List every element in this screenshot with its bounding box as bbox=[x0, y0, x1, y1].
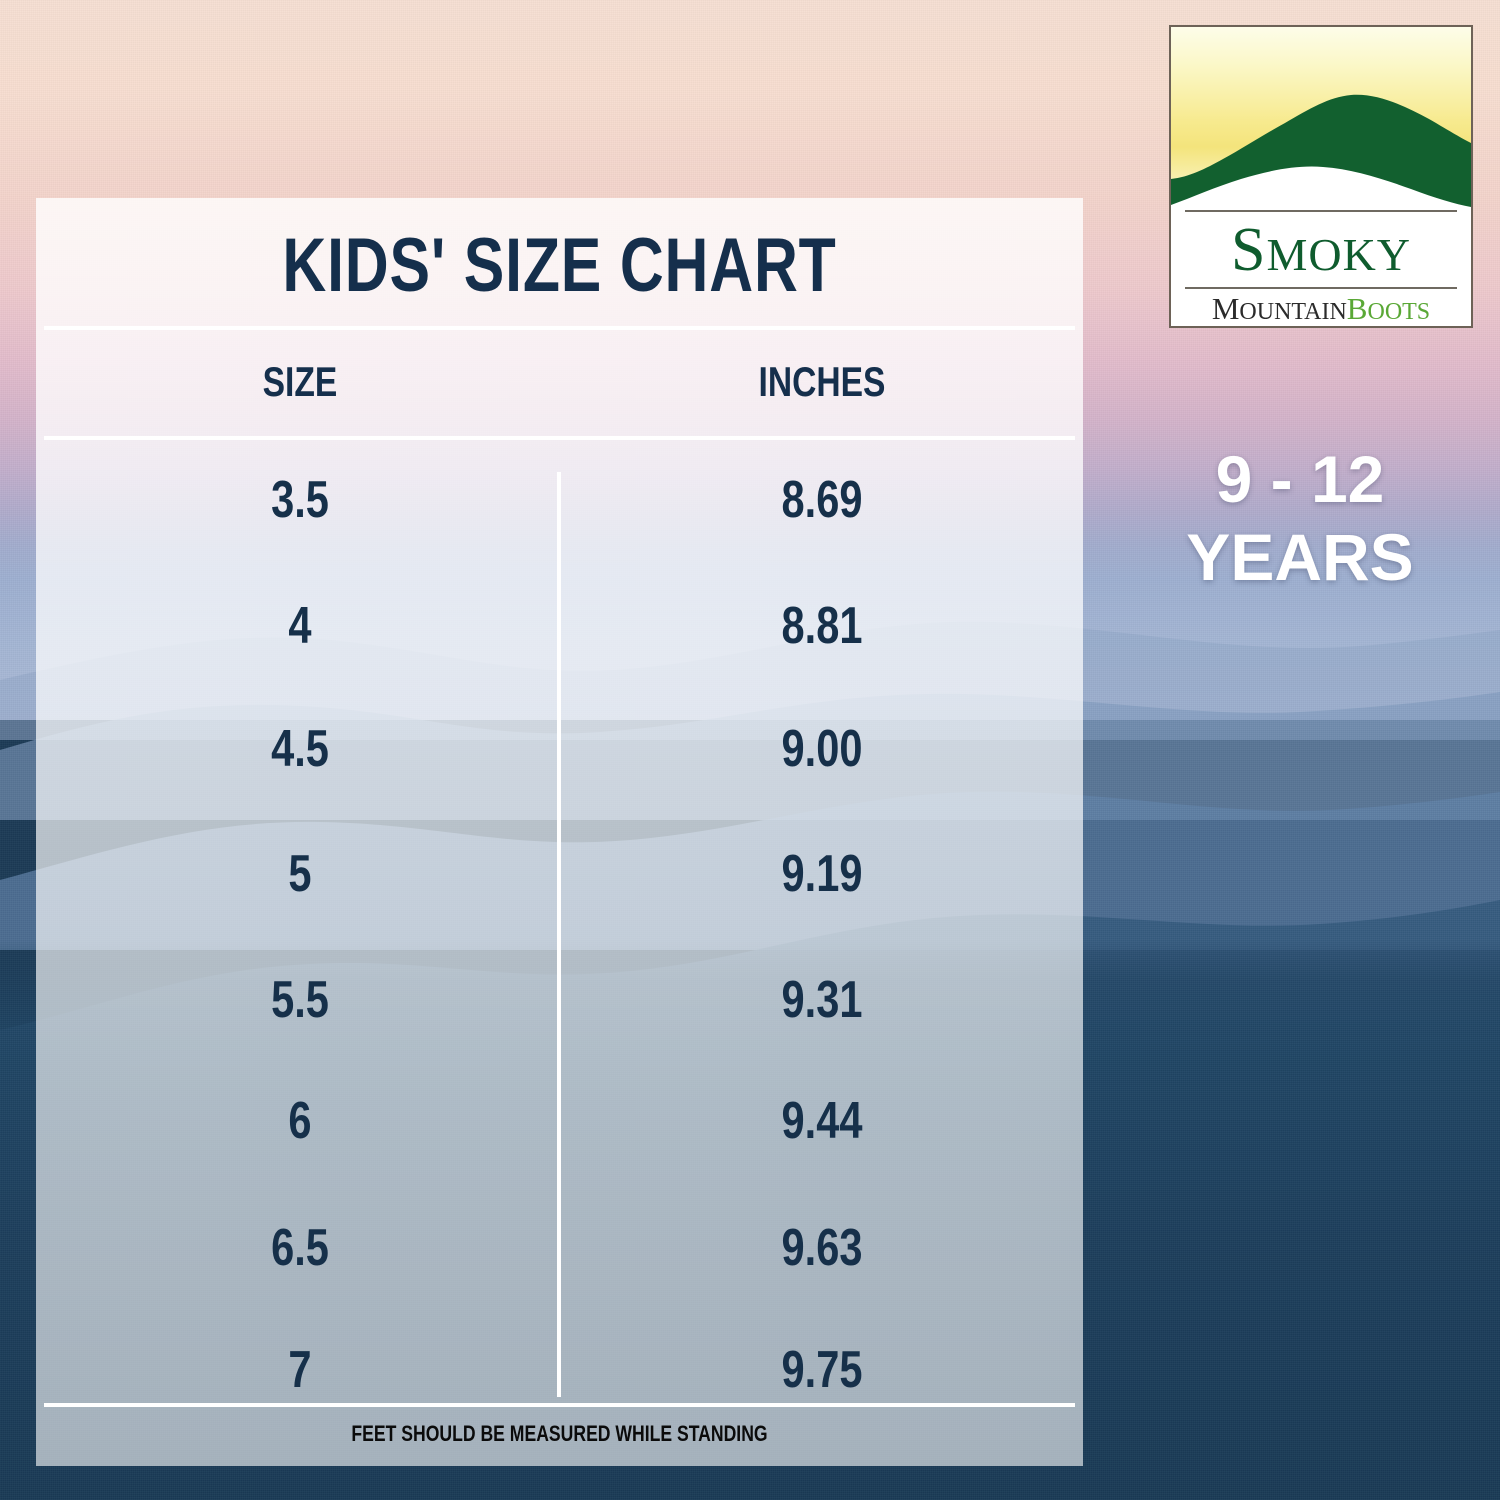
logo-mountain-rest: OUNTAIN bbox=[1239, 299, 1346, 325]
logo-mountain-initial: M bbox=[1212, 291, 1240, 326]
age-range-badge: 9 - 12 YEARS bbox=[1110, 440, 1490, 596]
footer-divider bbox=[44, 1403, 1075, 1407]
cell-size: 4 bbox=[214, 566, 385, 686]
column-header-inches: INCHES bbox=[726, 358, 918, 406]
cell-size: 6 bbox=[214, 1061, 385, 1181]
cell-inches: 9.75 bbox=[726, 1310, 918, 1430]
table-row: 6 9.44 bbox=[36, 1061, 1083, 1181]
brand-logo: SMOKY MOUNTAINBOOTS bbox=[1169, 25, 1473, 328]
column-header-size: SIZE bbox=[214, 358, 385, 406]
table-row: 7 9.75 bbox=[36, 1310, 1083, 1430]
size-chart-graphic: KIDS' SIZE CHART SIZE INCHES 3.5 8.69 4 … bbox=[0, 0, 1500, 1500]
table-row: 5 9.19 bbox=[36, 814, 1083, 934]
cell-size: 5 bbox=[214, 814, 385, 934]
table-row: 3.5 8.69 bbox=[36, 440, 1083, 560]
logo-boots-initial: B bbox=[1347, 291, 1368, 326]
cell-inches: 9.44 bbox=[726, 1061, 918, 1181]
table-row: 6.5 9.63 bbox=[36, 1188, 1083, 1308]
cell-size: 7 bbox=[214, 1310, 385, 1430]
logo-divider-bottom bbox=[1185, 287, 1457, 289]
cell-size: 6.5 bbox=[214, 1188, 385, 1308]
logo-brand-text: SMOKY bbox=[1171, 215, 1471, 290]
cell-inches: 9.19 bbox=[726, 814, 918, 934]
table-header-row: SIZE INCHES bbox=[36, 330, 1083, 434]
footer-note: FEET SHOULD BE MEASURED WHILE STANDING bbox=[141, 1420, 979, 1448]
table-row: 4.5 9.00 bbox=[36, 689, 1083, 809]
logo-subbrand-text: MOUNTAINBOOTS bbox=[1171, 291, 1471, 328]
logo-brand-rest: MOKY bbox=[1266, 229, 1411, 280]
cell-size: 4.5 bbox=[214, 689, 385, 809]
cell-inches: 8.81 bbox=[726, 566, 918, 686]
logo-brand-initial: S bbox=[1231, 216, 1266, 284]
mountain-sunrise-logo-icon bbox=[1171, 27, 1471, 207]
age-range-line-2: YEARS bbox=[1110, 518, 1490, 596]
cell-inches: 9.63 bbox=[726, 1188, 918, 1308]
logo-boots-rest: OOTS bbox=[1367, 299, 1430, 325]
cell-size: 5.5 bbox=[214, 940, 385, 1060]
cell-inches: 9.31 bbox=[726, 940, 918, 1060]
title-row: KIDS' SIZE CHART bbox=[36, 198, 1083, 326]
table-row: 5.5 9.31 bbox=[36, 940, 1083, 1060]
table-body: 3.5 8.69 4 8.81 4.5 9.00 5 9.19 5.5 9.31… bbox=[36, 440, 1083, 1403]
cell-inches: 8.69 bbox=[726, 440, 918, 560]
cell-inches: 9.00 bbox=[726, 689, 918, 809]
logo-divider-top bbox=[1185, 210, 1457, 212]
page-title: KIDS' SIZE CHART bbox=[141, 226, 979, 306]
age-range-line-1: 9 - 12 bbox=[1110, 440, 1490, 518]
table-row: 4 8.81 bbox=[36, 566, 1083, 686]
cell-size: 3.5 bbox=[214, 440, 385, 560]
size-chart-panel: KIDS' SIZE CHART SIZE INCHES 3.5 8.69 4 … bbox=[36, 198, 1083, 1466]
